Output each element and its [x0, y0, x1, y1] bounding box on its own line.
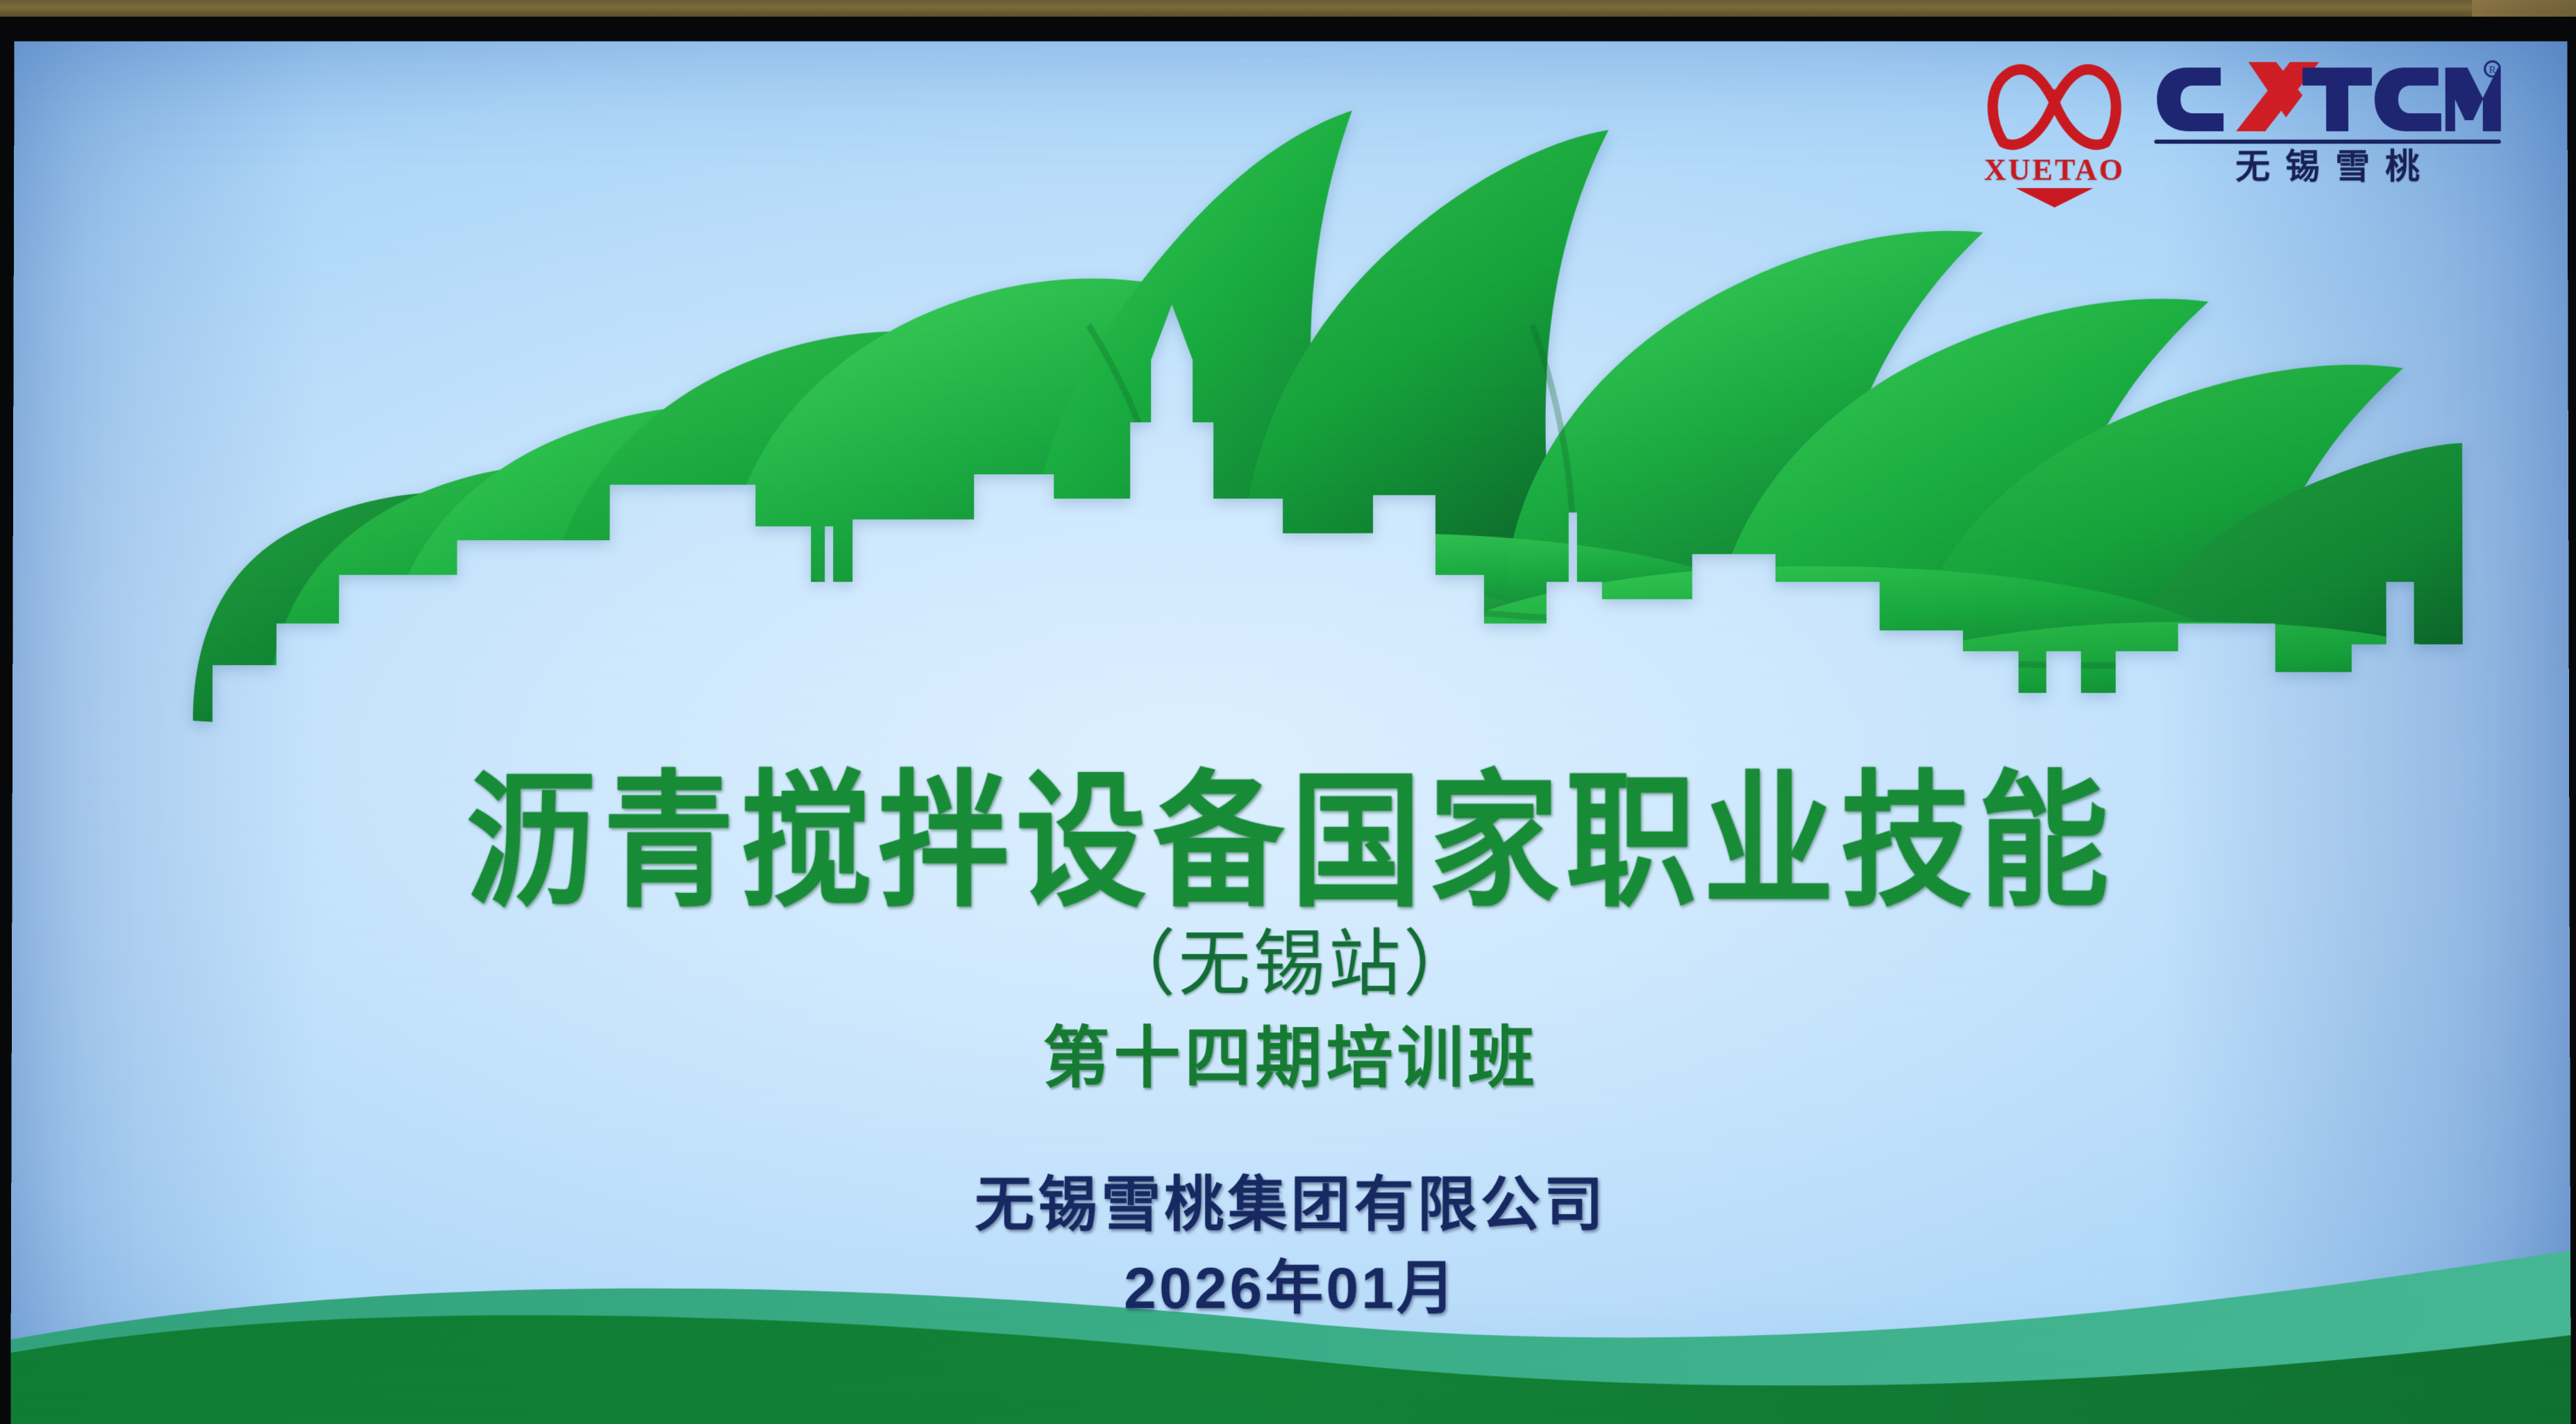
cxtcm-logo: R 无锡雪桃 [2154, 59, 2501, 184]
slide-class-session: 第十四期培训班 [12, 1025, 2570, 1091]
xuetao-logo: XUETAO [1985, 59, 2124, 208]
photographed-screen-scene: XUETAO [0, 0, 2576, 1424]
brand-logo-lockup: XUETAO [1985, 59, 2501, 208]
slide-date: 2026年01月 [11, 1259, 2571, 1317]
slide-main-title: 沥青搅拌设备国家职业技能 [12, 769, 2569, 916]
slide-company-name: 无锡雪桃集团有限公司 [11, 1175, 2570, 1235]
presentation-slide[interactable]: XUETAO [10, 41, 2570, 1424]
xuetao-wordmark: XUETAO [1984, 155, 2125, 185]
logo-divider-rule [2154, 140, 2500, 144]
svg-text:R: R [2489, 65, 2496, 76]
xuetao-arc-icon [2013, 185, 2096, 209]
cxtcm-wordmark-icon: R [2154, 59, 2501, 137]
cxtcm-chinese-wordmark: 无锡雪桃 [2154, 149, 2501, 184]
slide-station-subtitle: （无锡站） [12, 929, 2570, 1001]
xuetao-double-loop-icon [1985, 59, 2124, 158]
slide-text-block: 沥青搅拌设备国家职业技能 （无锡站） 第十四期培训班 无锡雪桃集团有限公司 20… [11, 769, 2571, 1317]
